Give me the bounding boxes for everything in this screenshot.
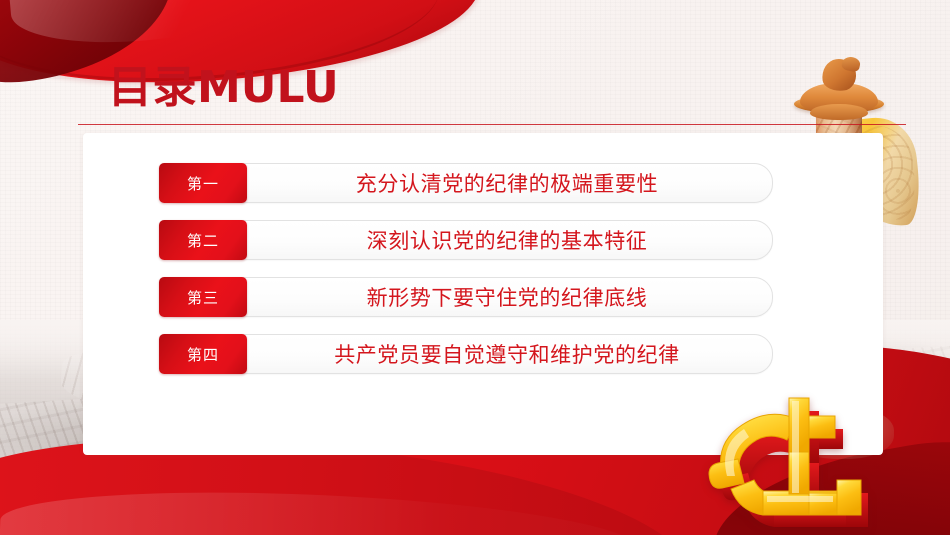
- item-label: 充分认清党的纪律的极端重要性: [256, 164, 758, 202]
- page-title-latin: MULU: [197, 62, 339, 113]
- item-label: 共产党员要自觉遵守和维护党的纪律: [256, 335, 758, 373]
- cpc-emblem-svg: [697, 392, 882, 535]
- contents-list: 第一 充分认清党的纪律的极端重要性 第二 深刻认识党的纪律的基本特征 第三 新形…: [159, 163, 773, 374]
- list-item[interactable]: 第一 充分认清党的纪律的极端重要性: [159, 163, 773, 203]
- list-item[interactable]: 第二 深刻认识党的纪律的基本特征: [159, 220, 773, 260]
- cpc-emblem-icon: [697, 392, 882, 535]
- huabiao-neck: [810, 104, 868, 120]
- item-badge: 第一: [159, 163, 247, 203]
- item-label: 新形势下要守住党的纪律底线: [256, 278, 758, 316]
- title-divider: [78, 124, 906, 125]
- item-label: 深刻认识党的纪律的基本特征: [256, 221, 758, 259]
- slide-canvas: 目录MULU 第一 充分认清党的纪律的极端重要性 第二 深刻认识党的纪律的基本特…: [0, 0, 950, 535]
- item-badge: 第四: [159, 334, 247, 374]
- list-item[interactable]: 第四 共产党员要自觉遵守和维护党的纪律: [159, 334, 773, 374]
- page-title-cn: 目录: [108, 62, 197, 113]
- list-item[interactable]: 第三 新形势下要守住党的纪律底线: [159, 277, 773, 317]
- item-badge: 第二: [159, 220, 247, 260]
- page-title: 目录MULU: [108, 66, 339, 110]
- item-badge: 第三: [159, 277, 247, 317]
